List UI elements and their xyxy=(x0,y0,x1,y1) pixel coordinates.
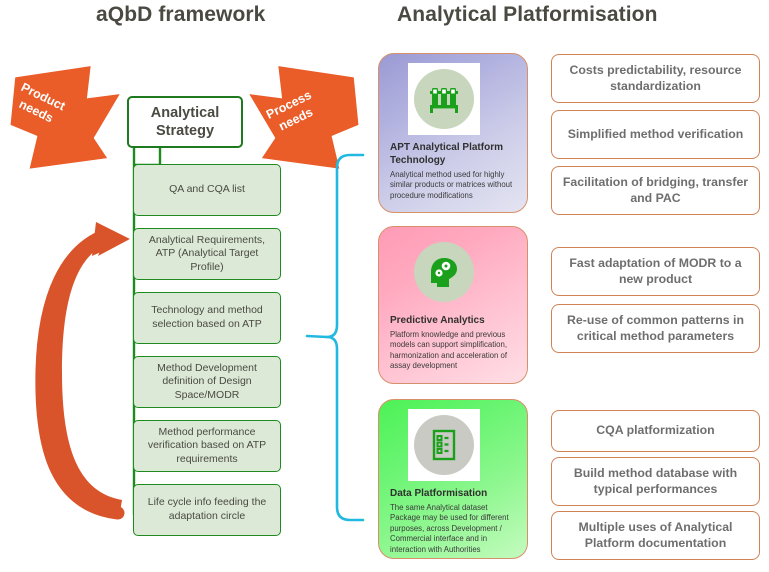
step-box-technology-selection[interactable]: Technology and method selection based on… xyxy=(133,292,281,344)
process-needs-label: Process needs xyxy=(263,87,321,137)
step-box-method-verification[interactable]: Method performance verification based on… xyxy=(133,420,281,472)
head-with-gears-icon-container xyxy=(408,236,480,308)
platform-card-apt-body: APT Analytical Platform Technology Analy… xyxy=(390,142,519,201)
head-with-gears-icon xyxy=(414,242,474,302)
analytical-strategy-line2: Strategy xyxy=(151,122,220,140)
step-box-qa-cqa-list[interactable]: QA and CQA list xyxy=(133,164,281,216)
step-box-life-cycle-info[interactable]: Life cycle info feeding the adaptation c… xyxy=(133,484,281,536)
platform-card-data-body: Data Platformisation The same Analytical… xyxy=(390,488,519,555)
step-box-method-development[interactable]: Method Development definition of Design … xyxy=(133,356,281,408)
test-tube-rack-icon xyxy=(414,69,474,129)
adaptation-circle-arrow-shape xyxy=(42,222,130,513)
platform-card-data-platformisation[interactable]: Data Platformisation The same Analytical… xyxy=(378,399,528,559)
platform-card-predictive-title: Predictive Analytics xyxy=(390,315,519,328)
strategy-connector xyxy=(134,148,160,165)
outcome-box-simplified-method-verification[interactable]: Simplified method verification xyxy=(551,110,760,159)
outcome-box-multiple-uses-documentation[interactable]: Multiple uses of Analytical Platform doc… xyxy=(551,511,760,560)
platform-card-apt-title: APT Analytical Platform Technology xyxy=(390,142,519,168)
outcome-box-fast-adaptation-modr[interactable]: Fast adaptation of MODR to a new product xyxy=(551,247,760,296)
analytical-strategy-box[interactable]: Analytical Strategy xyxy=(127,96,243,148)
analytical-strategy-line1: Analytical xyxy=(151,104,220,122)
outcome-box-build-method-database[interactable]: Build method database with typical perfo… xyxy=(551,457,760,506)
platform-card-data-description: The same Analytical dataset Package may … xyxy=(390,503,519,556)
diagram-canvas: aQbD framework Analytical Platformisatio… xyxy=(0,0,769,572)
outcome-box-facilitation-of-bridging[interactable]: Facilitation of bridging, transfer and P… xyxy=(551,166,760,215)
platform-card-predictive-description: Platform knowledge and previous models c… xyxy=(390,330,519,372)
checklist-clipboard-icon xyxy=(414,415,474,475)
page-title-left: aQbD framework xyxy=(96,3,265,27)
outcome-box-cqa-platformization[interactable]: CQA platformization xyxy=(551,410,760,452)
page-title-right: Analytical Platformisation xyxy=(397,3,658,27)
platform-card-data-title: Data Platformisation xyxy=(390,488,519,501)
checklist-clipboard-icon-container xyxy=(408,409,480,481)
outcome-box-reuse-common-patterns[interactable]: Re-use of common patterns in critical me… xyxy=(551,304,760,353)
platform-card-apt-analytical-platform-technology[interactable]: APT Analytical Platform Technology Analy… xyxy=(378,53,528,213)
test-tube-rack-icon-container xyxy=(408,63,480,135)
cyan-brace-shape xyxy=(307,155,363,520)
outcome-box-costs-predictability[interactable]: Costs predictability, resource standardi… xyxy=(551,54,760,103)
platform-card-apt-description: Analytical method used for highly simila… xyxy=(390,170,519,202)
step-box-analytical-requirements[interactable]: Analytical Requirements, ATP (Analytical… xyxy=(133,228,281,280)
platform-card-predictive-body: Predictive Analytics Platform knowledge … xyxy=(390,315,519,372)
platform-card-predictive-analytics[interactable]: Predictive Analytics Platform knowledge … xyxy=(378,226,528,384)
product-needs-label: Product needs xyxy=(11,79,67,128)
